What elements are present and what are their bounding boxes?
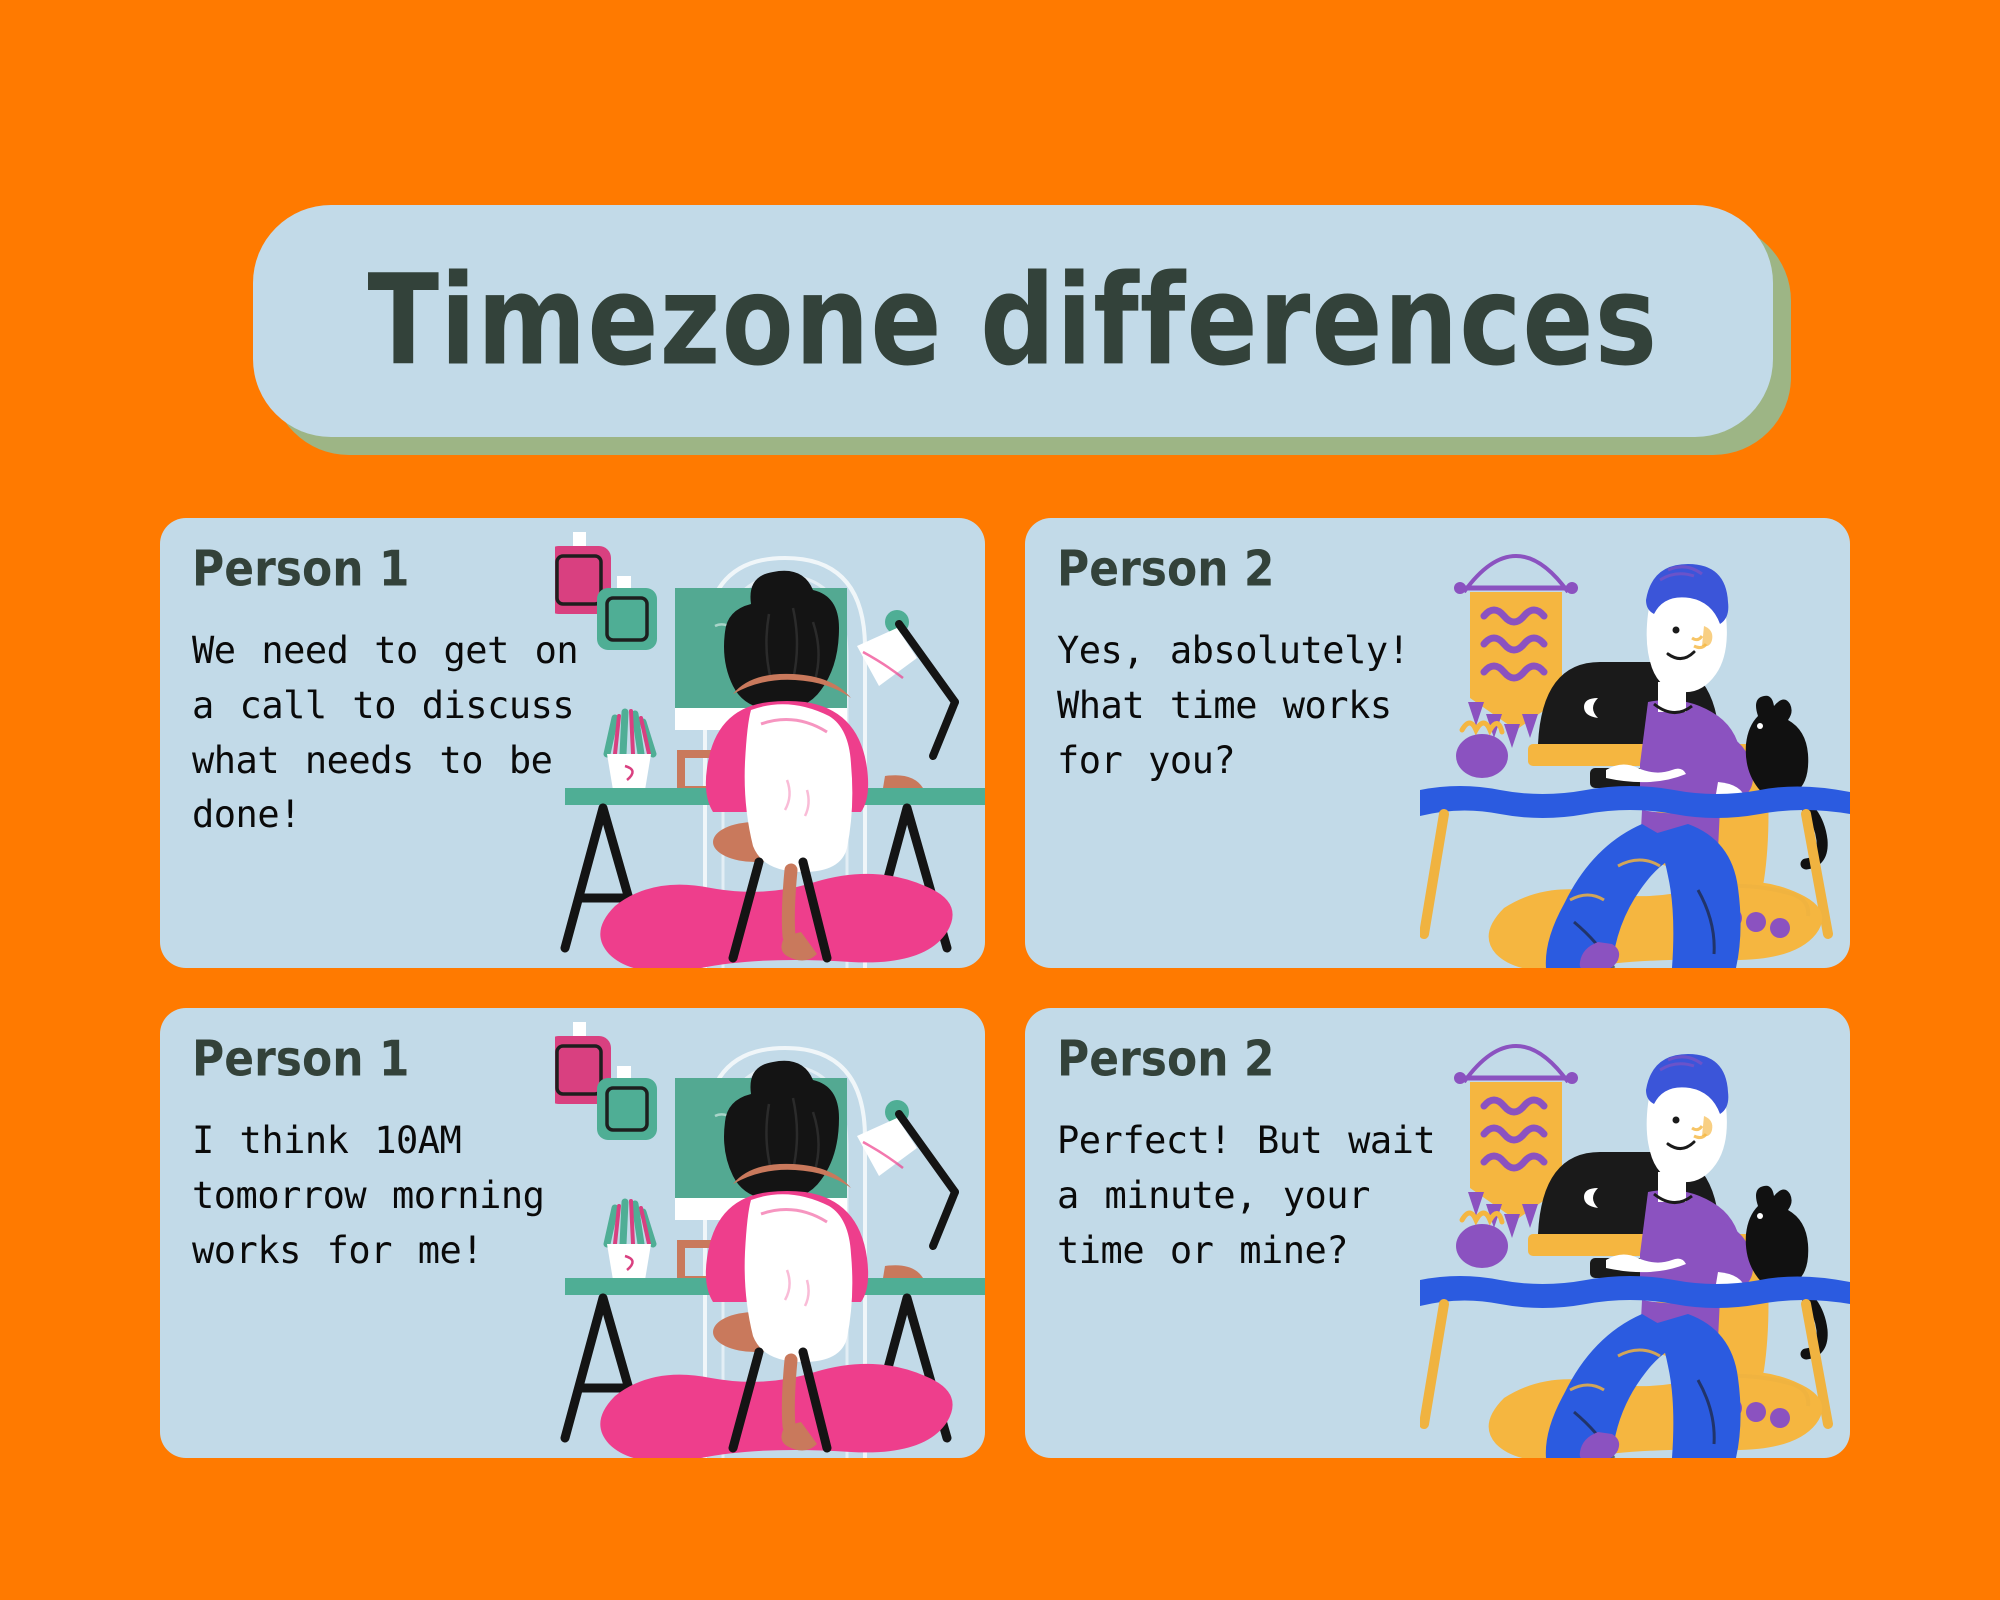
message-text: Yes, absolutely! What time works for you… [1057,624,1477,788]
card-text-column: Person 2 Yes, absolutely! What time work… [1057,544,1477,788]
message-text: Perfect! But wait a minute, your time or… [1057,1114,1477,1278]
card-text-column: Person 1 I think 10AM tomorrow morning w… [192,1034,612,1278]
illustration-person-with-laptop [1420,518,1850,968]
card-text-column: Person 1 We need to get on a call to dis… [192,544,612,843]
card-text-column: Person 2 Perfect! But wait a minute, you… [1057,1034,1477,1278]
card-grid: Person 1 We need to get on a call to dis… [160,518,1850,1458]
speaker-label: Person 1 [192,1034,612,1086]
page-title: Timezone differences [368,258,1659,383]
message-text: We need to get on a call to discuss what… [192,624,612,843]
conversation-card[interactable]: Person 1 We need to get on a call to dis… [160,518,985,968]
conversation-card[interactable]: Person 1 I think 10AM tomorrow morning w… [160,1008,985,1458]
message-text: I think 10AM tomorrow morning works for … [192,1114,612,1278]
illustration-woman-at-desk [555,518,985,968]
illustration-woman-at-desk [555,1008,985,1458]
speaker-label: Person 2 [1057,544,1477,596]
speaker-label: Person 1 [192,544,612,596]
conversation-card[interactable]: Person 2 Perfect! But wait a minute, you… [1025,1008,1850,1458]
title-banner-wrap: Timezone differences [253,205,1773,450]
speaker-label: Person 2 [1057,1034,1477,1086]
conversation-card[interactable]: Person 2 Yes, absolutely! What time work… [1025,518,1850,968]
illustration-person-with-laptop [1420,1008,1850,1458]
title-banner: Timezone differences [253,205,1773,437]
